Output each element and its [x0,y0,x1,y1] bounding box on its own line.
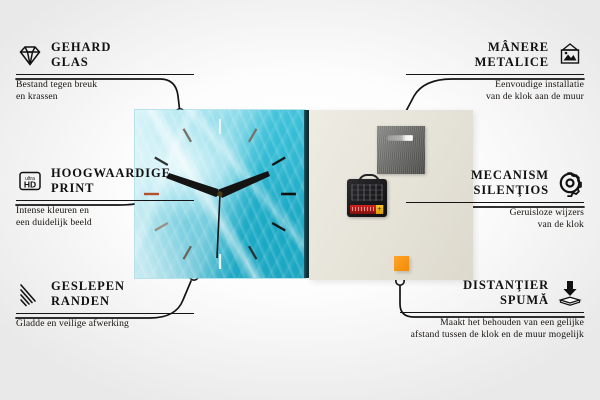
feature-title-line1: MÂNERE [475,40,549,55]
mechanism-housing [351,184,383,201]
feature-desc-line1: Gladde en veilige afwerking [16,318,194,331]
feature-title-line1: DISTANŢIER [463,278,549,293]
foam-spacer [394,256,409,271]
feature-description: Bestand tegen breuk en krassen [16,79,194,105]
feature-divider [16,200,194,201]
feature-distantier-spuma: DISTANŢIER SPUMĂ Maakt het behouden van … [400,278,584,342]
clock-mechanism: + [347,179,387,217]
battery-label [352,207,374,211]
feature-title: DISTANŢIER SPUMĂ [463,278,549,309]
feature-title-line1: HOOGWAARDIGE [51,166,171,181]
feature-header: GESLEPEN RANDEN [16,279,194,310]
feature-title: HOOGWAARDIGE PRINT [51,166,171,197]
feature-divider [400,312,584,313]
metal-hanger-plate [377,126,425,174]
feature-title-line2: METALICE [475,55,549,70]
feature-title-line1: MECANISM [471,168,549,183]
feature-desc-line1: Geruisloze wijzers [406,207,584,220]
clock-center-cap [217,191,222,196]
feature-title: MECANISM SILENŢIOS [471,168,549,199]
gear-icon [556,169,584,197]
hanger-slot [387,135,413,141]
feature-title: MÂNERE METALICE [475,40,549,71]
feature-title-line2: PRINT [51,181,171,196]
feature-geslepen-randen: GESLEPEN RANDEN Gladde en veilige afwerk… [16,279,194,330]
feature-desc-line2: afstand tussen de klok en de muur mogeli… [400,329,584,342]
feature-title-line2: SILENŢIOS [471,183,549,198]
feature-title-line2: SPUMĂ [463,293,549,308]
feature-header: MÂNERE METALICE [406,40,584,71]
feature-desc-line2: en krassen [16,91,194,104]
feature-header: ultra HD HOOGWAARDIGE PRINT [16,166,194,197]
feature-title-line2: RANDEN [51,294,125,309]
bevel-edge-icon [16,280,44,308]
feature-title-line1: GESLEPEN [51,279,125,294]
feature-header: DISTANŢIER SPUMĂ [400,278,584,309]
feature-divider [16,313,194,314]
feature-desc-line1: Eenvoudige installatie [406,79,584,92]
diamond-icon [16,41,44,69]
feature-divider [406,202,584,203]
feature-description: Gladde en veilige afwerking [16,318,194,331]
foam-spacer-icon [556,279,584,307]
feature-mecanism-silentios: MECANISM SILENŢIOS Geruisloze wijzers va… [406,168,584,232]
feature-hoogwaardige-print: ultra HD HOOGWAARDIGE PRINT Intense kleu… [16,166,194,230]
feature-desc-line1: Maakt het behouden van een gelijke [400,317,584,330]
second-hand [217,194,220,258]
feature-description: Maakt het behouden van een gelijke afsta… [400,317,584,343]
feature-title: GESLEPEN RANDEN [51,279,125,310]
ultra-hd-icon: ultra HD [16,167,44,195]
feature-title: GEHARD GLAS [51,40,111,71]
mechanism-hanging-loop [358,174,380,184]
infographic-canvas: + GEHARD GLAS Bestand tegen breuk e [0,0,600,400]
minute-hand [219,171,271,198]
feature-desc-line2: een duidelijk beeld [16,217,194,230]
feature-title-line2: GLAS [51,55,111,70]
svg-text:HD: HD [24,180,36,190]
wall-frame-icon [556,41,584,69]
feature-desc-line2: van de klok aan de muur [406,91,584,104]
feature-description: Geruisloze wijzers van de klok [406,207,584,233]
battery-plus-terminal: + [376,205,383,214]
feature-desc-line1: Bestand tegen breuk [16,79,194,92]
feature-manere-metalice: MÂNERE METALICE Eenvoudige installatie v… [406,40,584,104]
feature-desc-line2: van de klok [406,219,584,232]
feature-title-line1: GEHARD [51,40,111,55]
feature-gehard-glas: GEHARD GLAS Bestand tegen breuk en krass… [16,40,194,104]
feature-desc-line1: Intense kleuren en [16,205,194,218]
feature-description: Eenvoudige installatie van de klok aan d… [406,79,584,105]
feature-header: GEHARD GLAS [16,40,194,71]
feature-header: MECANISM SILENŢIOS [406,168,584,199]
feature-description: Intense kleuren en een duidelijk beeld [16,205,194,231]
feature-divider [16,74,194,75]
battery: + [350,205,384,214]
feature-divider [406,74,584,75]
